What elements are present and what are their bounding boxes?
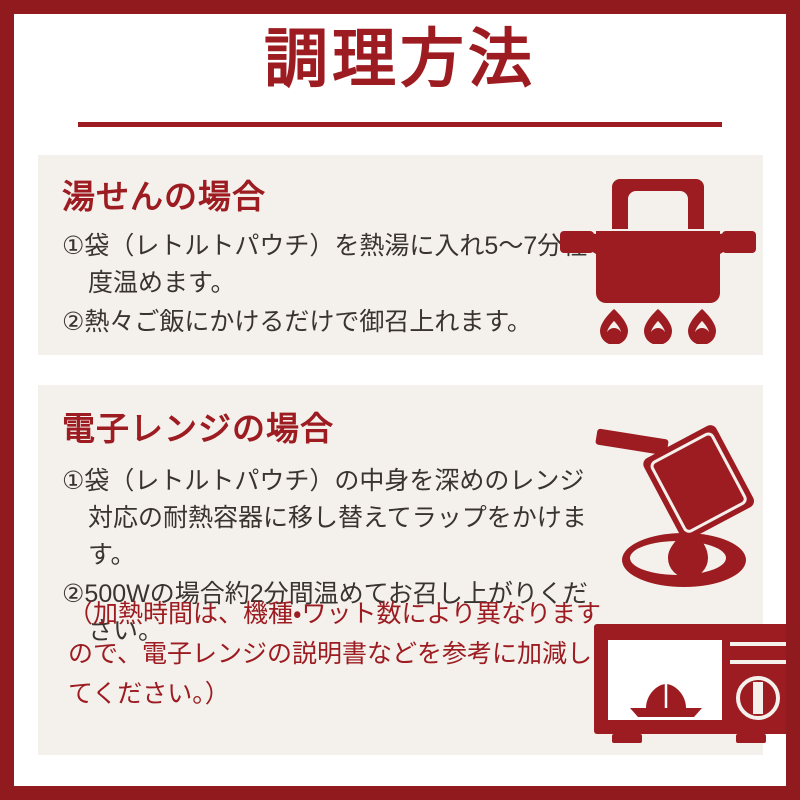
inner-frame: 調理方法 湯せんの場合 ①袋（レトルトパウチ）を熱湯に入れ5〜7分程度温めます。… bbox=[14, 14, 786, 786]
section-card-boil: 湯せんの場合 ①袋（レトルトパウチ）を熱湯に入れ5〜7分程度温めます。 ②熱々ご… bbox=[38, 155, 763, 355]
section-card-microwave: 電子レンジの場合 ①袋（レトルトパウチ）の中身を深めのレンジ対応の耐熱容器に移し… bbox=[38, 385, 763, 755]
title-divider bbox=[78, 122, 722, 127]
microwave-oven-icon bbox=[590, 620, 790, 750]
title-block: 調理方法 bbox=[14, 22, 786, 98]
cooking-pot-icon bbox=[558, 169, 758, 344]
step-list-boil: ①袋（レトルトパウチ）を熱湯に入れ5〜7分程度温めます。 ②熱々ご飯にかけるだけ… bbox=[62, 228, 592, 343]
step-item: ②熱々ご飯にかけるだけで御召上れます。 bbox=[62, 304, 592, 341]
section-heading-microwave: 電子レンジの場合 bbox=[62, 410, 334, 450]
step-item: ①袋（レトルトパウチ）を熱湯に入れ5〜7分程度温めます。 bbox=[62, 228, 592, 302]
page-title: 調理方法 bbox=[14, 22, 786, 98]
retort-pouch-pour-icon bbox=[586, 412, 786, 602]
section-heading-boil: 湯せんの場合 bbox=[62, 178, 266, 218]
microwave-time-note: （加熱時間は、機種・ワット数により異なりますので、電子レンジの説明書などを参考に… bbox=[68, 594, 613, 714]
step-item: ①袋（レトルトパウチ）の中身を深めのレンジ対応の耐熱容器に移し替えてラップをかけ… bbox=[62, 463, 607, 574]
poster-root: 調理方法 湯せんの場合 ①袋（レトルトパウチ）を熱湯に入れ5〜7分程度温めます。… bbox=[0, 0, 800, 800]
